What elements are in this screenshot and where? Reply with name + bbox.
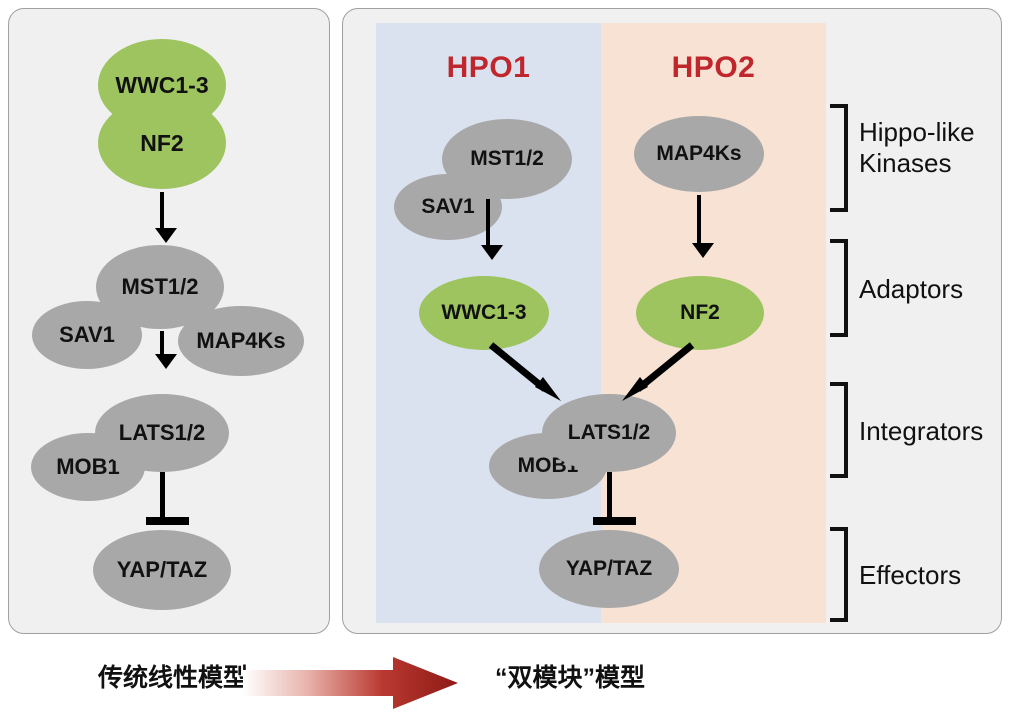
node-map4ks: MAP4Ks	[634, 116, 764, 192]
arrow-mst-to-lats	[160, 331, 164, 356]
node-yap-taz: YAP/TAZ	[539, 530, 679, 608]
bracket-hippo-like-kinases	[830, 104, 848, 212]
bracket-label-line1: Integrators	[859, 416, 983, 447]
node-mst1-2: MST1/2	[96, 245, 224, 329]
bracket-label-integrators: Integrators	[859, 416, 983, 447]
inhibition-lats-to-yap	[160, 472, 165, 517]
node-lats1-2: LATS1/2	[542, 394, 676, 472]
module-title-hpo2: HPO2	[601, 51, 826, 85]
hippo-pathway-figure: WWC1-3 NF2 SAV1 MST1/2 MAP4Ks MOB1 LATS1…	[0, 0, 1018, 717]
bracket-label-effectors: Effectors	[859, 560, 961, 591]
bracket-label-adaptors: Adaptors	[859, 274, 963, 305]
gradient-right-arrow-icon	[243, 657, 458, 709]
bracket-label-line2: Kinases	[859, 148, 975, 179]
bracket-adaptors	[830, 239, 848, 337]
bracket-label-line1: Effectors	[859, 560, 961, 591]
arrow-mst-to-wwc	[486, 199, 490, 247]
classical-linear-model-card: WWC1-3 NF2 SAV1 MST1/2 MAP4Ks MOB1 LATS1…	[8, 8, 330, 634]
bracket-label-hippo-like-kinases: Hippo-like Kinases	[859, 117, 975, 178]
dual-module-model-card: HPO1 HPO2 SAV1 MST1/2 MAP4Ks WWC1-3 NF2 …	[342, 8, 1002, 634]
arrow-map4ks-to-nf2	[697, 195, 701, 245]
node-wwc1-3: WWC1-3	[98, 39, 226, 131]
module-title-hpo1: HPO1	[376, 51, 601, 85]
inhibition-lats-to-yap	[607, 472, 612, 517]
node-mst1-2: MST1/2	[442, 119, 572, 199]
arrow-wwc-to-lats	[483, 339, 573, 405]
bracket-label-line1: Hippo-like	[859, 117, 975, 148]
arrow-nf2-to-lats	[610, 339, 700, 405]
node-yap-taz: YAP/TAZ	[93, 530, 231, 610]
caption-right-label: “双模块”模型	[495, 658, 645, 694]
node-lats1-2: LATS1/2	[95, 394, 229, 472]
bracket-label-line1: Adaptors	[859, 274, 963, 305]
bracket-effectors	[830, 527, 848, 622]
arrow-nf2-to-mst	[160, 192, 164, 230]
caption-left-label: 传统线性模型	[98, 658, 248, 694]
bracket-integrators	[830, 382, 848, 478]
